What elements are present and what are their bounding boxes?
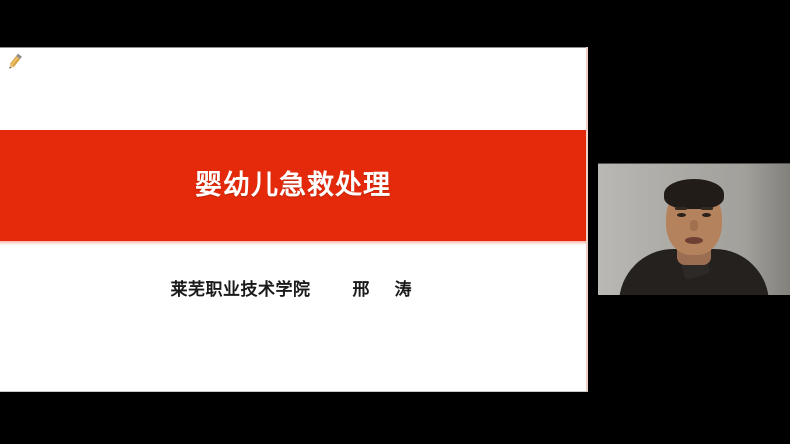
slide-top-border (0, 47, 588, 48)
pencil-icon[interactable] (3, 51, 25, 73)
webcam-video-panel[interactable] (598, 163, 790, 295)
presenter-eye-right (702, 213, 711, 217)
presenter-nose (690, 220, 698, 231)
presenter-eye-left (677, 213, 686, 217)
slide-title: 婴幼儿急救处理 (195, 172, 391, 199)
screen-root: 婴幼儿急救处理 莱芜职业技术学院 邢 涛 (0, 0, 790, 444)
slide-subtitle: 莱芜职业技术学院 邢 涛 (0, 275, 586, 300)
presenter-hair (664, 179, 724, 209)
title-band-shadow (0, 241, 586, 245)
subtitle-organization: 莱芜职业技术学院 (171, 275, 311, 300)
presenter-eyebrow-left (675, 207, 687, 210)
presentation-slide[interactable]: 婴幼儿急救处理 莱芜职业技术学院 邢 涛 (0, 47, 588, 392)
title-band: 婴幼儿急救处理 (0, 130, 586, 241)
slide-right-border (586, 47, 588, 392)
presenter-mouth (685, 237, 703, 244)
subtitle-presenter: 邢 涛 (353, 275, 416, 300)
presenter-eyebrow-right (701, 207, 713, 210)
video-top-border (598, 163, 790, 164)
slide-bottom-border (0, 391, 588, 392)
